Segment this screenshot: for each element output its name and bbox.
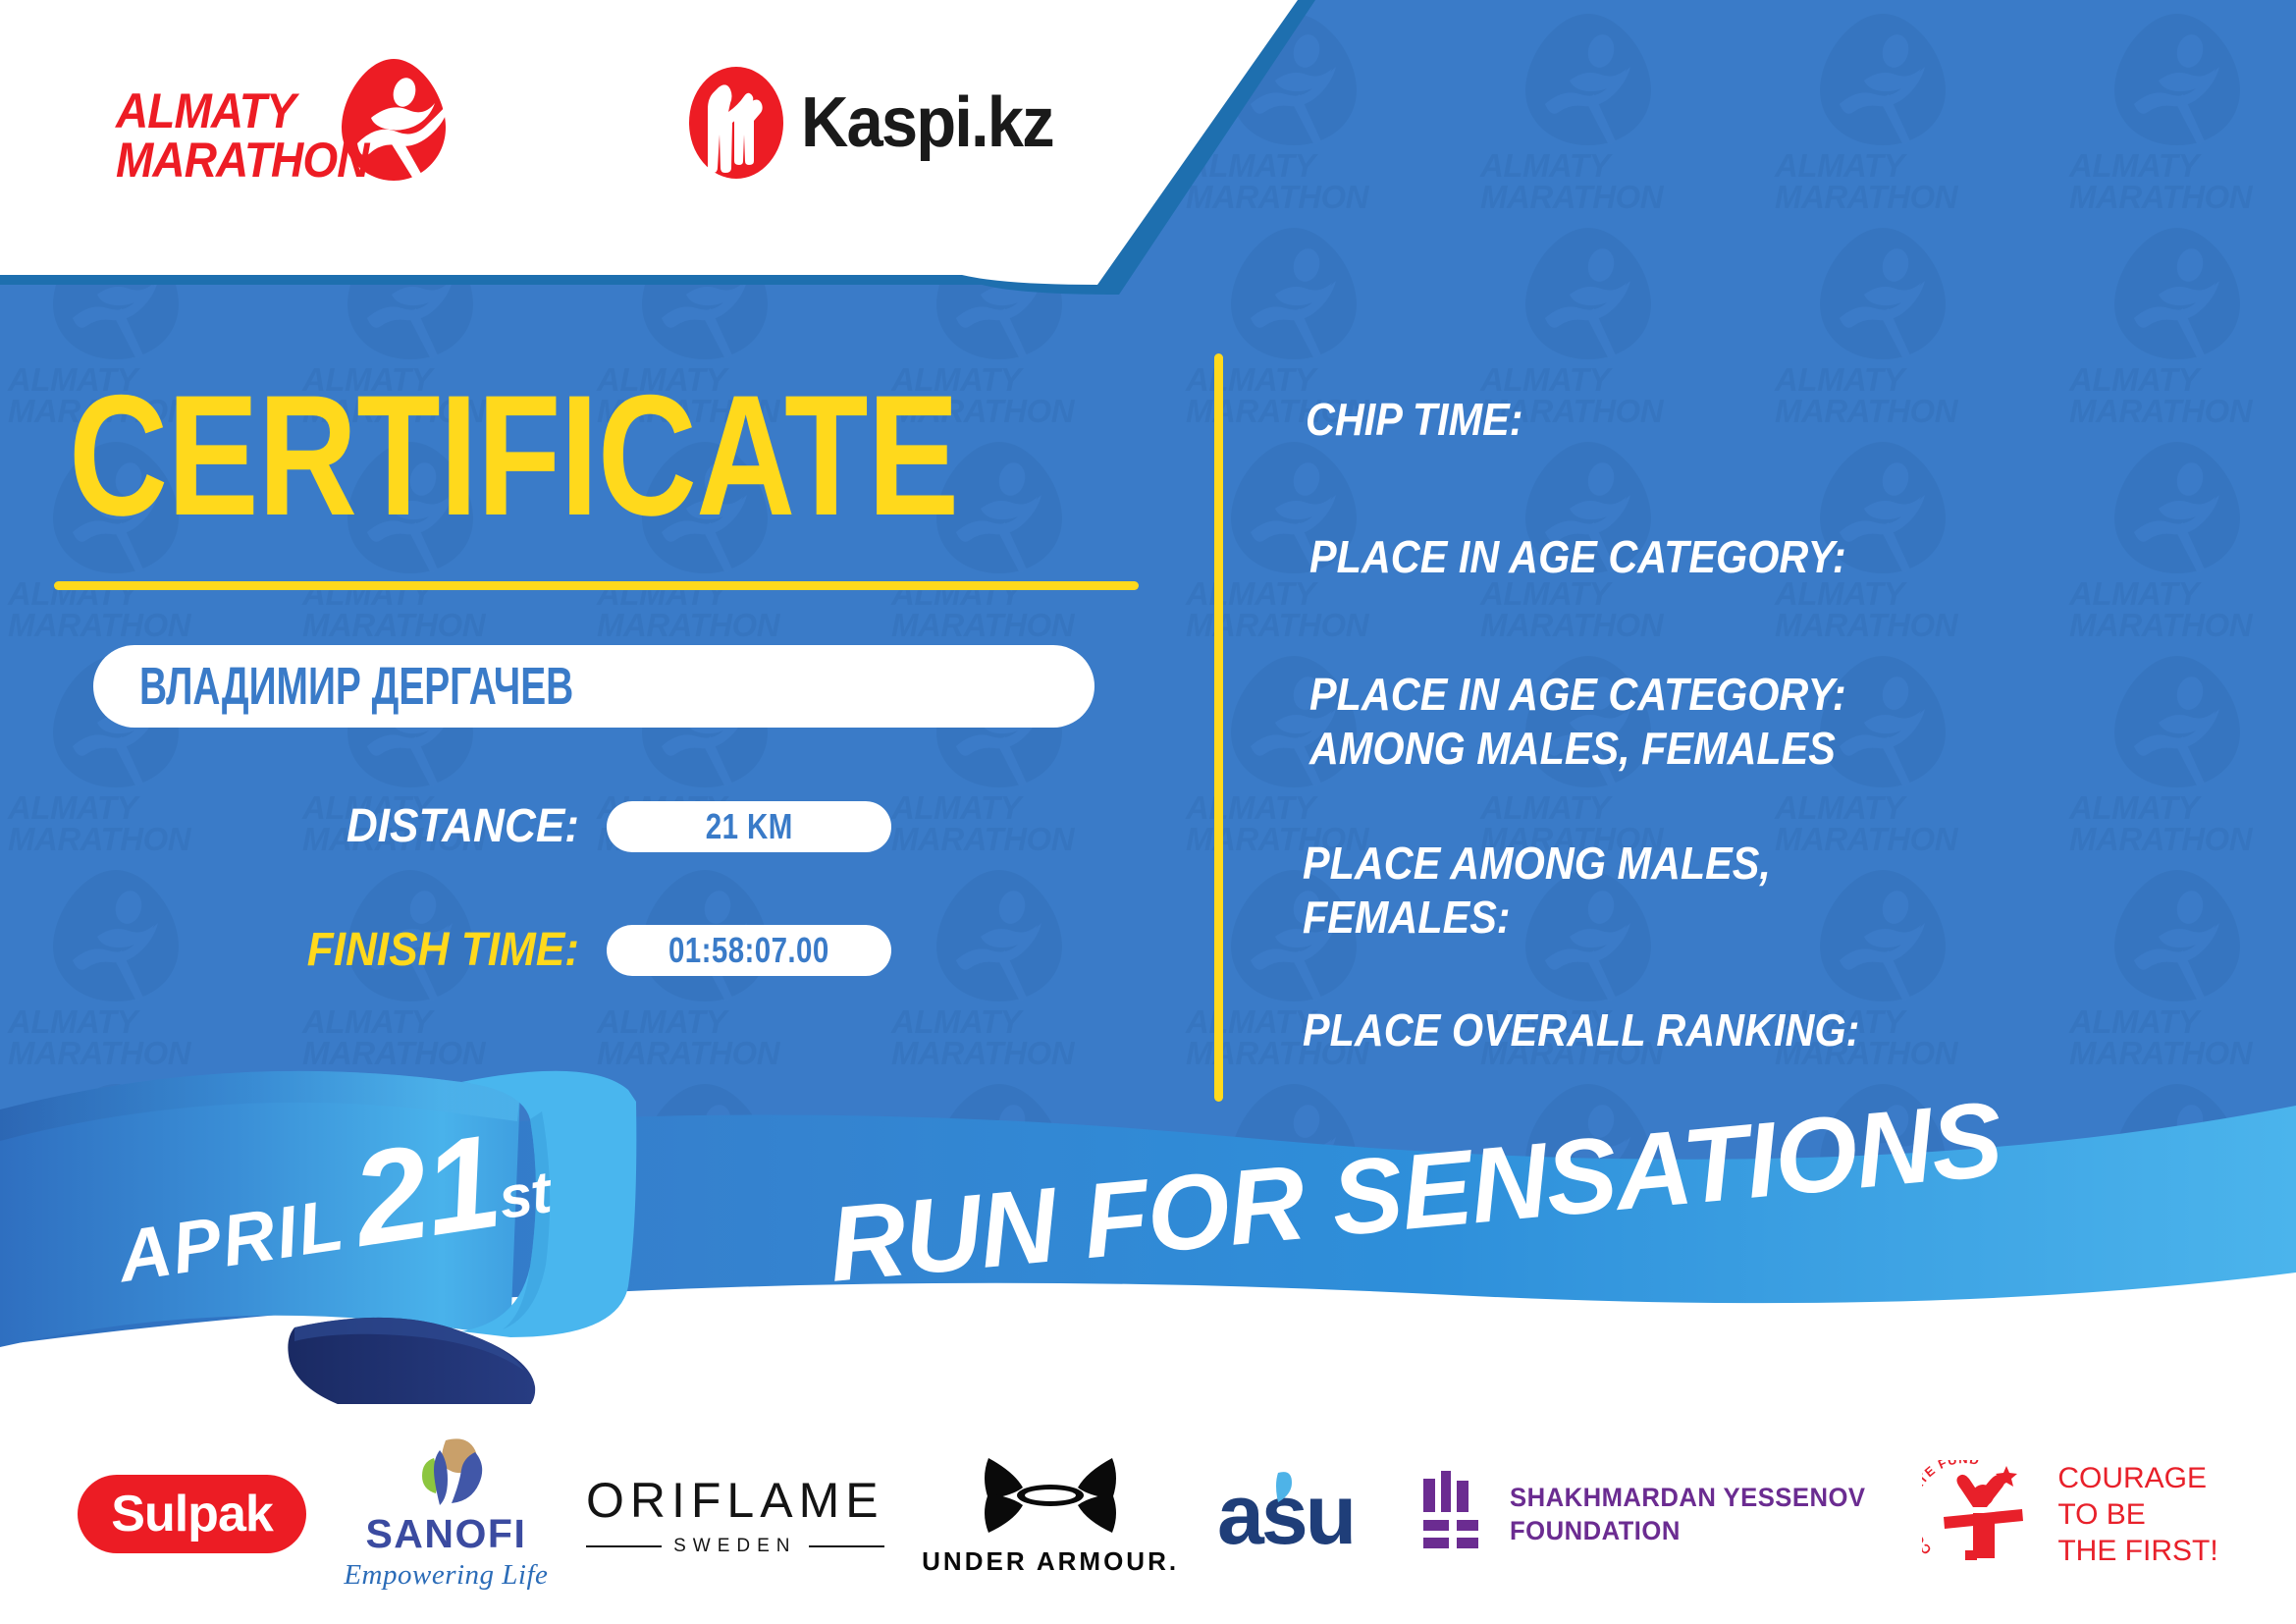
stat-place-age-category-label: PLACE IN AGE CATEGORY:	[1309, 530, 1846, 584]
under-armour-icon	[977, 1452, 1124, 1539]
oriflame-sub: SWEDEN	[586, 1536, 884, 1557]
almaty-marathon-logo: ALMATYMARATHON	[116, 57, 459, 194]
stat-chip-time-value-pill: 01:55:02.00	[1911, 395, 2200, 442]
courage-tagline: COURAGE TO BE THE FIRST!	[2057, 1460, 2217, 1569]
oriflame-rule-right	[809, 1545, 884, 1547]
oriflame-wordmark: ORIFLAME	[586, 1472, 884, 1529]
sanofi-wordmark: SANOFI	[365, 1511, 526, 1557]
stat-chip-time-label: CHIP TIME:	[1306, 393, 1523, 447]
stat-place-age-category-value: 817	[2070, 539, 2116, 577]
sponsor-strip: Sulpak SANOFI Empowering Life ORIFLAME S…	[0, 1404, 2296, 1624]
stat-place-among-males-females-value: 745	[2070, 845, 2116, 884]
stat-place-age-category-among-value: 745	[2070, 678, 2116, 717]
under-armour-wordmark: UNDER ARMOUR.	[922, 1546, 1179, 1577]
kaspi-people-icon	[687, 64, 785, 182]
stat-chip-time: CHIP TIME:	[1306, 393, 1547, 447]
sulpak-wordmark: Sulpak	[78, 1475, 306, 1553]
sponsor-sulpak: Sulpak	[78, 1475, 306, 1553]
oriflame-rule-left	[586, 1545, 662, 1547]
field-finish-time-label: FINISH TIME:	[252, 923, 579, 977]
participant-name: ВЛАДИМИР ДЕРГАЧЕВ	[139, 656, 573, 717]
almaty-marathon-wordmark: ALMATYMARATHON	[116, 86, 369, 185]
event-month: APRIL	[113, 1183, 350, 1297]
stat-place-age-category-among-value-pill: 745	[1985, 674, 2201, 721]
page-title: CERTIFICATE	[69, 378, 958, 535]
column-divider	[1214, 353, 1223, 1102]
sponsor-sanofi: SANOFI Empowering Life	[344, 1436, 548, 1592]
header-content: ALMATYMARATHON Kaspi.kz	[0, 0, 1394, 295]
stat-place-overall-ranking: PLACE OVERALL RANKING:	[1303, 1003, 1921, 1057]
sponsor-under-armour: UNDER ARMOUR.	[922, 1452, 1179, 1577]
field-distance-value: 21 KM	[706, 806, 793, 847]
stat-place-among-males-females-value-pill: 745	[1985, 840, 2201, 888]
field-finish-time: FINISH TIME: 01:58:07.00	[224, 923, 931, 977]
stat-place-overall-ranking-label: PLACE OVERALL RANKING:	[1303, 1003, 1859, 1057]
courage-fund-icon: CORPORATE FUND	[1922, 1460, 2044, 1568]
oriflame-tagline: SWEDEN	[673, 1536, 796, 1557]
svg-text:CORPORATE FUND: CORPORATE FUND	[1922, 1460, 1981, 1557]
kaspi-wordmark: Kaspi.kz	[801, 82, 1053, 163]
event-day: 21	[344, 1107, 507, 1274]
certificate-canvas: ALMATY MARATHON ALMATYMARATHON	[0, 0, 2296, 1624]
sponsor-corporate-fund: CORPORATE FUND COURAGE TO BE THE FIRST!	[1922, 1460, 2217, 1569]
stat-place-age-category-among-label: PLACE IN AGE CATEGORY: AMONG MALES, FEMA…	[1309, 668, 1846, 776]
stat-place-overall-ranking-value-pill: 817	[1985, 1007, 2201, 1055]
yessenov-wordmark: SHAKHMARDAN YESSENOV FOUNDATION	[1510, 1481, 1865, 1547]
kaspi-logo: Kaspi.kz	[687, 59, 1080, 187]
title-underline	[54, 581, 1139, 590]
sanofi-tagline: Empowering Life	[344, 1559, 548, 1592]
field-finish-time-value: 01:58:07.00	[668, 930, 829, 971]
stat-place-age-category: PLACE IN AGE CATEGORY:	[1309, 530, 1905, 584]
yessenov-icon	[1421, 1469, 1484, 1559]
stat-place-age-category-value-pill: 817	[1985, 534, 2201, 581]
stat-place-overall-ranking-value: 817	[2070, 1012, 2116, 1051]
stat-place-among-males-females-label: PLACE AMONG MALES, FEMALES:	[1303, 837, 1771, 945]
field-finish-time-value-pill: 01:58:07.00	[607, 925, 891, 976]
stat-place-age-category-among: PLACE IN AGE CATEGORY: AMONG MALES, FEMA…	[1309, 668, 1905, 776]
sponsor-asu: asu	[1217, 1467, 1384, 1561]
asu-wordmark-icon: asu	[1217, 1467, 1384, 1561]
field-distance-label: DISTANCE:	[299, 799, 579, 853]
sanofi-icon	[399, 1436, 493, 1509]
participant-name-field: ВЛАДИМИР ДЕРГАЧЕВ	[93, 645, 1095, 728]
field-distance: DISTANCE: 21 KM	[275, 799, 923, 853]
sponsor-oriflame: ORIFLAME SWEDEN	[586, 1472, 884, 1557]
stat-chip-time-value: 01:55:02.00	[1982, 400, 2129, 438]
sponsor-yessenov-foundation: SHAKHMARDAN YESSENOV FOUNDATION	[1421, 1469, 1885, 1559]
event-day-suffix: st	[495, 1159, 555, 1231]
field-distance-value-pill: 21 KM	[607, 801, 891, 852]
stat-place-among-males-females: PLACE AMONG MALES, FEMALES:	[1303, 837, 1823, 945]
